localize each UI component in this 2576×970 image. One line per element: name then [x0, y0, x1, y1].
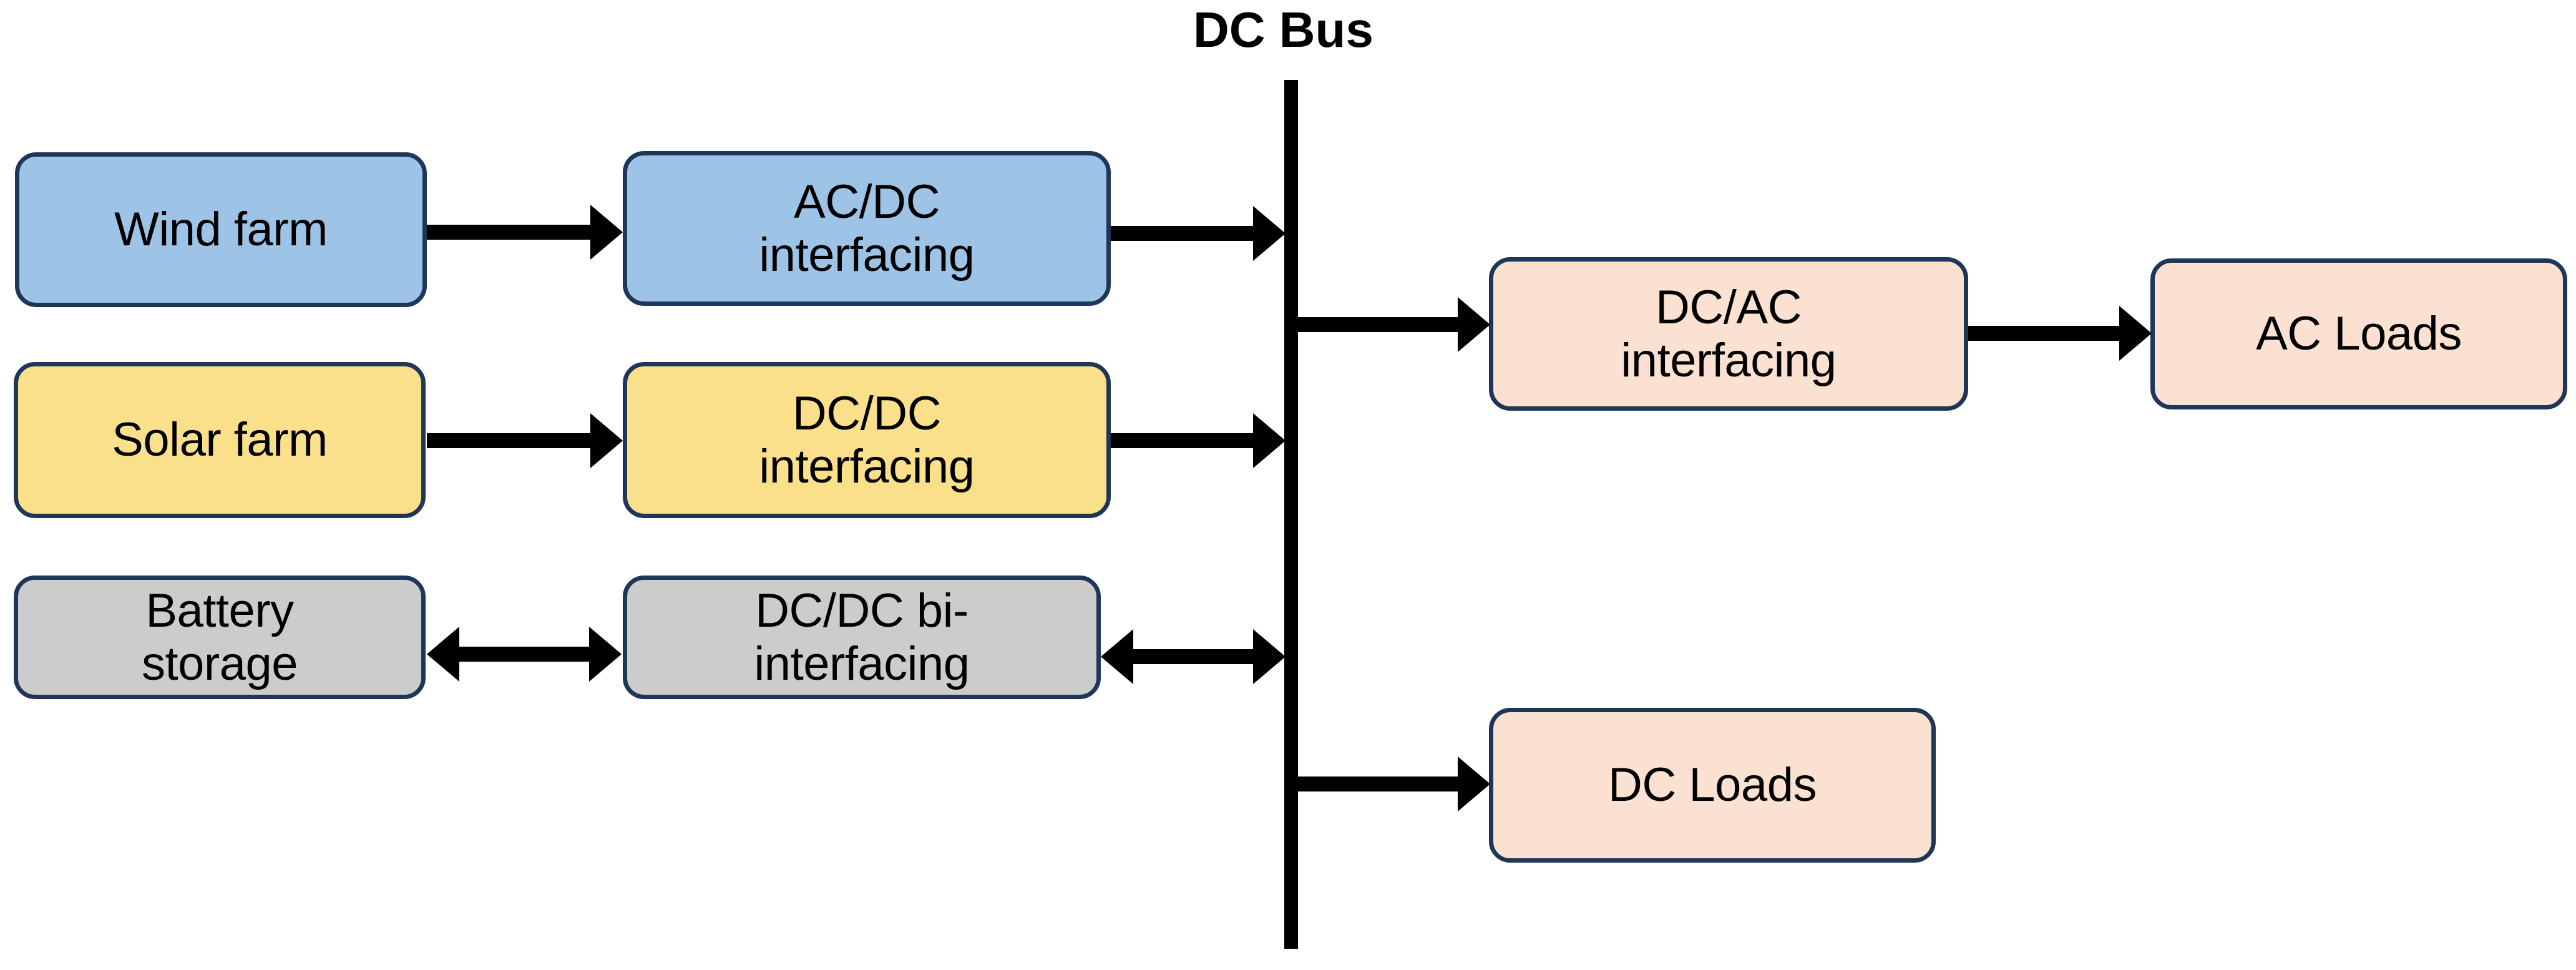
- connector-shaft: [1968, 326, 2119, 341]
- node-label-solar-farm: Solar farm: [112, 413, 328, 466]
- arrowhead-end: [1253, 206, 1286, 261]
- node-dcdc-interfacing[interactable]: DC/DC interfacing: [623, 362, 1111, 518]
- node-label-acdc-interfacing: AC/DC interfacing: [759, 175, 974, 282]
- connector-solar-to-dcdc: [427, 413, 623, 468]
- connector-bus-to-dcac: [1297, 297, 1490, 352]
- connector-shaft: [459, 647, 589, 662]
- node-label-ac-loads: AC Loads: [2256, 307, 2462, 360]
- node-solar-farm[interactable]: Solar farm: [14, 362, 426, 518]
- node-label-wind-farm: Wind farm: [114, 203, 328, 256]
- node-battery-storage[interactable]: Battery storage: [14, 576, 426, 699]
- node-label-battery-storage: Battery storage: [142, 584, 298, 690]
- connector-dcdc-to-bus: [1111, 413, 1286, 468]
- connector-dcac-to-acloads: [1968, 306, 2152, 361]
- node-label-dcdc-interfacing: DC/DC interfacing: [759, 387, 974, 493]
- arrowhead-start: [1101, 629, 1133, 684]
- connector-shaft: [1111, 433, 1253, 448]
- node-acdc-interfacing[interactable]: AC/DC interfacing: [623, 151, 1111, 306]
- arrowhead-end: [1253, 413, 1286, 468]
- connector-acdc-to-bus: [1111, 206, 1286, 261]
- node-label-dcac-interfacing: DC/AC interfacing: [1621, 281, 1836, 387]
- connector-battery-to-dcdcbi: [427, 627, 622, 682]
- connector-shaft: [1297, 776, 1458, 791]
- connector-dcdcbi-to-bus: [1101, 629, 1286, 684]
- arrowhead-end: [590, 205, 623, 260]
- connector-shaft: [1111, 226, 1253, 241]
- node-wind-farm[interactable]: Wind farm: [15, 152, 427, 307]
- dc-bus-line: [1284, 80, 1298, 949]
- node-dc-loads[interactable]: DC Loads: [1489, 708, 1936, 863]
- connector-shaft: [1297, 317, 1458, 332]
- node-dcac-interfacing[interactable]: DC/AC interfacing: [1489, 257, 1968, 411]
- diagram-canvas: DC Bus Wind farmAC/DC interfacingSolar f…: [0, 0, 2576, 970]
- connector-shaft: [427, 433, 590, 448]
- arrowhead-end: [589, 627, 622, 682]
- arrowhead-end: [590, 413, 623, 468]
- arrowhead-end: [1458, 297, 1490, 352]
- connector-shaft: [1133, 649, 1253, 664]
- arrowhead-end: [2119, 306, 2152, 361]
- dc-bus-label: DC Bus: [1193, 5, 1373, 55]
- node-label-dc-loads: DC Loads: [1608, 758, 1817, 811]
- arrowhead-end: [1458, 757, 1490, 811]
- connector-shaft: [427, 225, 590, 240]
- arrowhead-end: [1253, 629, 1286, 684]
- node-label-dcdc-bi: DC/DC bi- interfacing: [754, 584, 969, 690]
- arrowhead-start: [427, 627, 459, 682]
- node-ac-loads[interactable]: AC Loads: [2150, 258, 2567, 409]
- connector-bus-to-dcloads: [1297, 757, 1490, 811]
- connector-wind-to-acdc: [427, 205, 623, 260]
- node-dcdc-bi[interactable]: DC/DC bi- interfacing: [623, 576, 1101, 699]
